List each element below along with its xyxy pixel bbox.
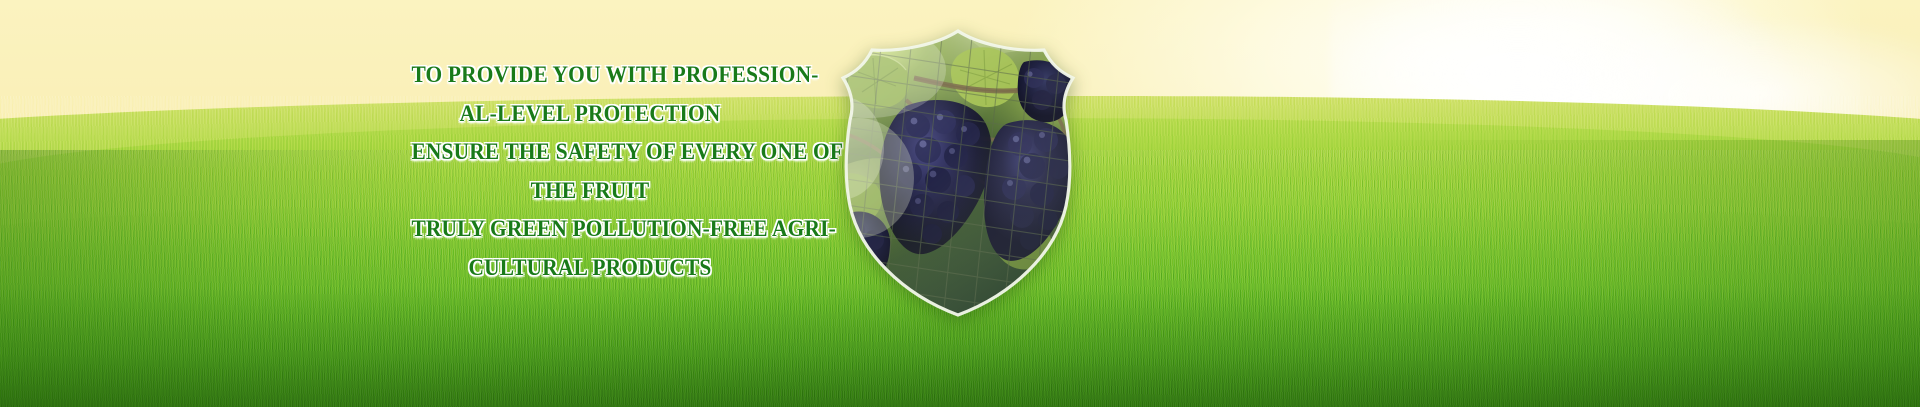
slogan-line-2: AL-LEVEL PROTECTION <box>411 95 768 134</box>
shield-emblem-graphic <box>810 28 1106 318</box>
slogan-line-3: ENSURE THE SAFETY OF EVERY ONE OF <box>411 133 768 172</box>
shield-emblem <box>810 28 1106 318</box>
slogan-line-6: CULTURAL PRODUCTS <box>411 249 768 288</box>
slogan-line-5: TRULY GREEN POLLUTION-FREE AGRI- <box>411 210 768 249</box>
slogan-line-1: TO PROVIDE YOU WITH PROFESSION- <box>411 56 768 95</box>
hero-banner: TO PROVIDE YOU WITH PROFESSION- AL-LEVEL… <box>0 0 1920 407</box>
slogan-block: TO PROVIDE YOU WITH PROFESSION- AL-LEVEL… <box>398 56 782 287</box>
slogan-line-4: THE FRUIT <box>411 172 768 211</box>
